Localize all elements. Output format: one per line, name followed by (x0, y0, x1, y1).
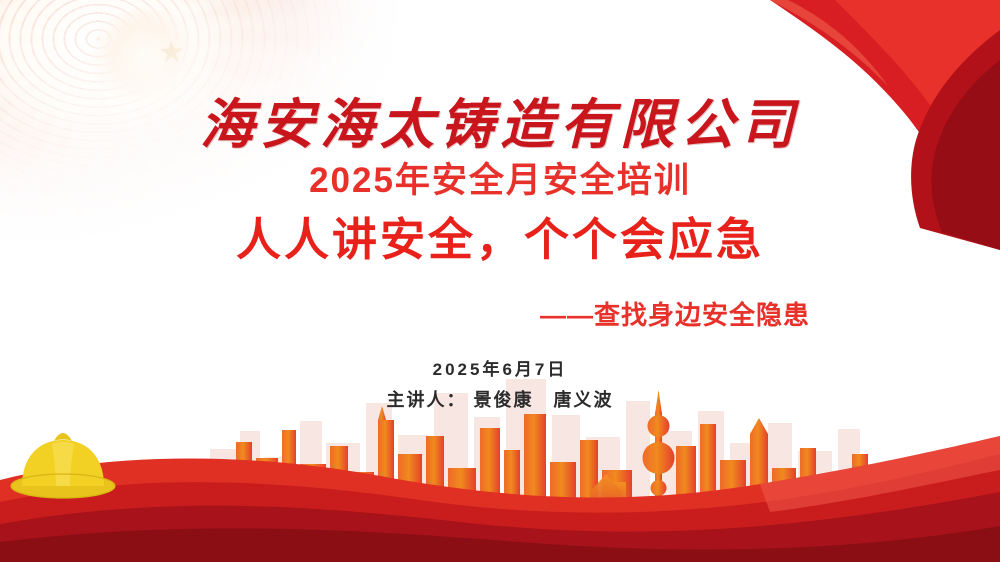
presentation-slide: ★ (0, 0, 1000, 562)
safety-slogan: 人人讲安全，个个会应急 (0, 203, 1000, 268)
company-title: 海安海太铸造有限公司 (0, 80, 1000, 159)
training-subtitle: 2025年安全月安全培训 (0, 152, 1000, 203)
presenter-names: 主讲人： 景俊康 唐义波 (0, 386, 1000, 412)
presentation-date: 2025年6月7日 (0, 355, 1000, 380)
tagline: ——查找身边安全隐患 (540, 295, 810, 332)
wave-ribbon-decoration (0, 392, 1000, 562)
safety-helmet-icon (8, 424, 118, 504)
